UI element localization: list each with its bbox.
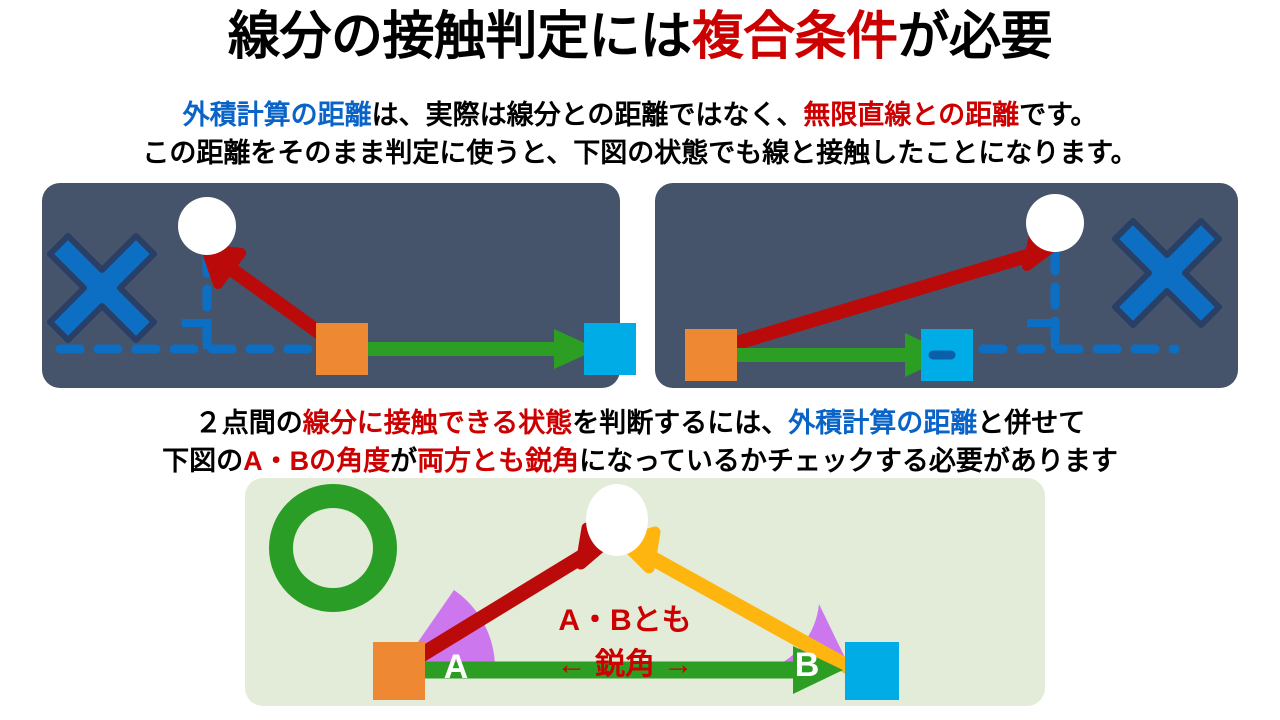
paragraph-top-line2: この距離をそのまま判定に使うと、下図の状態でも線と接触したことになります。 [0,134,1280,172]
white-circle-marker [586,484,648,556]
white-circle-marker [178,197,236,255]
paragraph-top-line1-seg2: は、実際は線分との距離ではなく、 [372,100,804,130]
angle-b-label: B [795,646,820,684]
page-title: 線分の接触判定には複合条件が必要 [0,8,1280,68]
paragraph-top-line1-seg3: 無限直線との距離 [803,100,1019,130]
red-arrow-icon [400,528,609,668]
paragraph-mid-line2-seg5: になっているかチェックする必要があります [579,446,1118,476]
orange-square-marker [373,642,425,700]
cyan-square-marker [584,323,636,375]
paragraph-mid-line1-seg1: ２点間の [195,408,303,438]
paragraph-top: 外積計算の距離は、実際は線分との距離ではなく、無限直線との距離です。 この距離を… [0,96,1280,173]
figure-bottom-panel: A B A・Bとも ← 鋭角 → [245,478,1045,706]
acute-note-line1: A・Bとも [558,604,691,637]
paragraph-top-line1-seg1: 外積計算の距離 [183,100,372,130]
paragraph-mid-line2-seg1: 下図の [162,446,243,476]
paragraph-top-line1-seg4: です。 [1019,100,1097,130]
green-segment-arrow-icon [342,329,598,369]
angle-a-label: A [444,648,469,686]
slide-root: 線分の接触判定には複合条件が必要 外積計算の距離は、実際は線分との距離ではなく、… [0,0,1280,720]
cyan-square-marker [845,642,899,700]
title-part1: 線分の接触判定には [228,8,692,66]
figure-right-panel [655,183,1238,388]
white-circle-marker [1026,194,1084,252]
red-distance-arrow-icon [717,232,1055,349]
cross-mark-icon [1115,221,1219,325]
orange-square-marker [685,329,737,381]
paragraph-mid-line2-seg3: が [390,446,417,476]
acute-note-line2: ← 鋭角 → [557,648,694,681]
figure-left-canvas [42,183,620,388]
paragraph-mid-line1-seg3: を判断するには、 [572,408,788,438]
paragraph-mid-line2-seg2: A・Bの角度 [243,446,390,476]
paragraph-mid-line1-seg5: と併せて [977,408,1085,438]
figure-left-panel [42,183,620,388]
paragraph-mid-line1-seg4: 外積計算の距離 [788,408,977,438]
title-highlight: 複合条件 [691,8,897,66]
figure-bottom-canvas: A B A・Bとも ← 鋭角 → [245,478,1045,706]
paragraph-mid-line1-seg2: 線分に接触できる状態 [303,408,572,438]
title-part2: が必要 [898,8,1053,66]
paragraph-top-line1: 外積計算の距離は、実際は線分との距離ではなく、無限直線との距離です。 [0,96,1280,134]
cross-mark-icon [50,236,154,340]
paragraph-mid: ２点間の線分に接触できる状態を判断するには、外積計算の距離と併せて 下図のA・B… [0,404,1280,481]
paragraph-mid-line1: ２点間の線分に接触できる状態を判断するには、外積計算の距離と併せて [0,404,1280,442]
circle-mark-icon [281,496,385,600]
orange-square-marker [316,323,368,375]
figure-right-canvas [655,183,1238,388]
paragraph-mid-line2-seg4: 両方とも鋭角 [417,446,579,476]
paragraph-mid-line2: 下図のA・Bの角度が両方とも鋭角になっているかチェックする必要があります [0,442,1280,480]
